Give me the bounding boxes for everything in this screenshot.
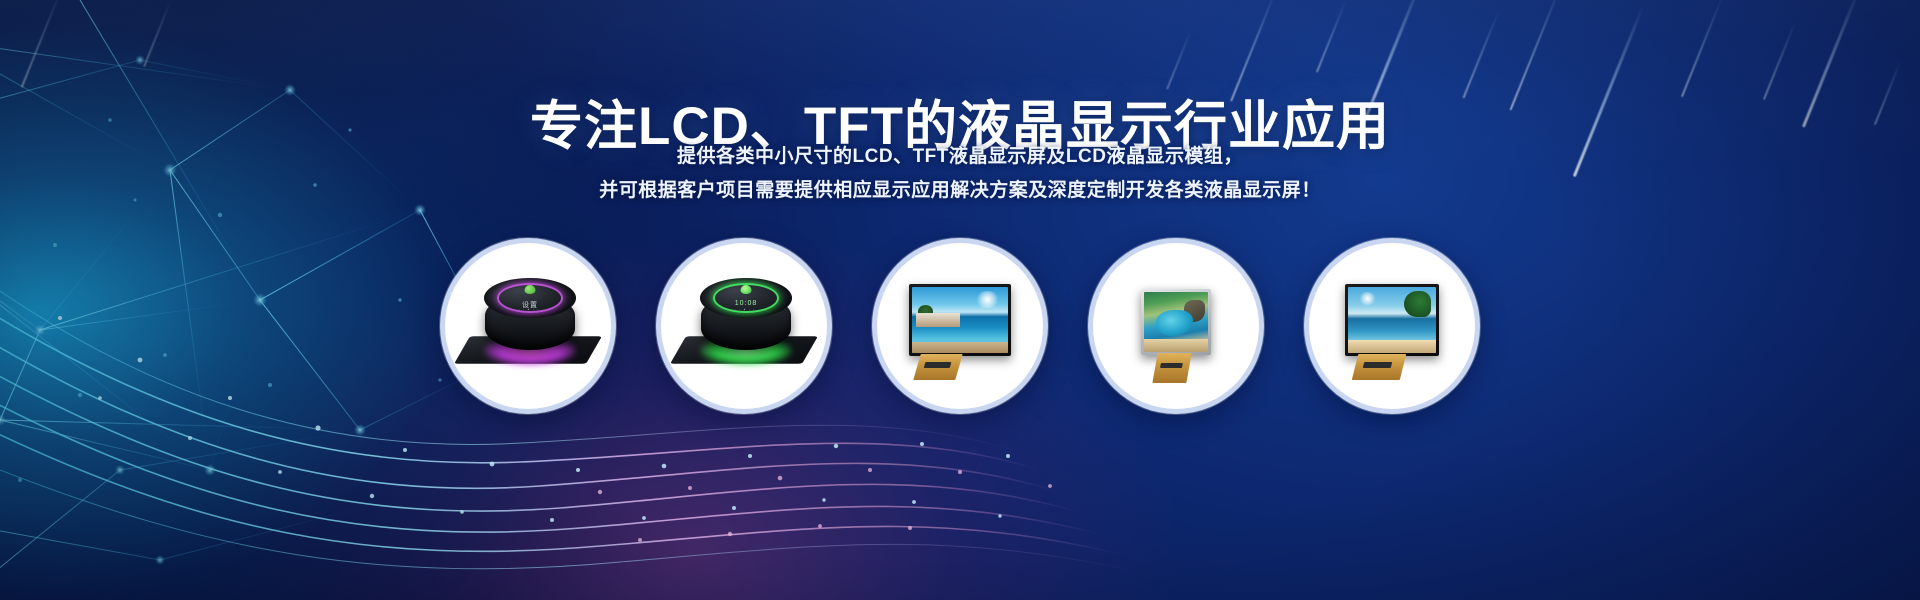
device-indicator-dots: ··▪·· xyxy=(700,307,792,313)
tft-lcd-panel-widescreen-image xyxy=(909,284,1011,356)
sand-strip xyxy=(1348,340,1436,353)
panel-screen-image xyxy=(1144,292,1208,352)
hero-banner: 专注LCD、TFT的液晶显示行业应用 提供各类中小尺寸的LCD、TFT液晶显示屏… xyxy=(0,0,1920,600)
tft-lcd-panel-small-image xyxy=(1141,289,1211,355)
fpc-ribbon-cable xyxy=(913,354,962,380)
subtitle-line-1: 提供各类中小尺寸的LCD、TFT液晶显示屏及LCD液晶显示模组， xyxy=(0,140,1920,174)
villa-building xyxy=(916,313,960,326)
device-top-display: 10:08 ··▪·· xyxy=(700,278,792,318)
product-circle-smart-speaker-green[interactable]: 10:08 ··▪·· xyxy=(656,238,832,414)
leaf-icon xyxy=(525,285,536,294)
product-circle-tft-widescreen[interactable] xyxy=(872,238,1048,414)
panel-bezel xyxy=(1345,284,1439,356)
fpc-ribbon-cable xyxy=(1352,354,1406,380)
sun-highlight xyxy=(975,291,1000,308)
panel-bezel xyxy=(909,284,1011,356)
sun-highlight xyxy=(1359,292,1377,305)
pool-deck xyxy=(912,342,1008,353)
smart-speaker-purple-image: 设置 ··▪·· xyxy=(458,266,598,386)
product-circle-row: 设置 ··▪·· 10:08 ··▪·· xyxy=(0,238,1920,404)
banner-subtitle: 提供各类中小尺寸的LCD、TFT液晶显示屏及LCD液晶显示模组， 并可根据客户项… xyxy=(0,140,1920,208)
coastal-bay xyxy=(1156,310,1193,336)
product-circle-tft-touch[interactable] xyxy=(1304,238,1480,414)
panel-screen-image xyxy=(1348,287,1436,353)
subtitle-line-2: 并可根据客户项目需要提供相应显示应用解决方案及深度定制开发各类液晶显示屏！ xyxy=(0,174,1920,208)
smart-speaker-green-image: 10:08 ··▪·· xyxy=(674,266,814,386)
leaf-icon xyxy=(741,285,752,294)
device-top-display: 设置 ··▪·· xyxy=(484,278,576,318)
tft-lcd-panel-touch-image xyxy=(1345,284,1439,356)
sand-strip xyxy=(1144,339,1208,352)
device-screen-label: 10:08 xyxy=(700,300,792,307)
palm-tree xyxy=(1404,291,1430,317)
panel-bezel xyxy=(1141,289,1211,355)
driver-chip xyxy=(1363,362,1392,368)
driver-chip xyxy=(924,362,952,368)
product-circle-smart-speaker-purple[interactable]: 设置 ··▪·· xyxy=(440,238,616,414)
product-circle-tft-small[interactable] xyxy=(1088,238,1264,414)
driver-chip xyxy=(1160,363,1183,368)
fpc-ribbon-cable xyxy=(1152,353,1191,383)
device-indicator-dots: ··▪·· xyxy=(484,307,576,313)
panel-screen-image xyxy=(912,287,1008,353)
